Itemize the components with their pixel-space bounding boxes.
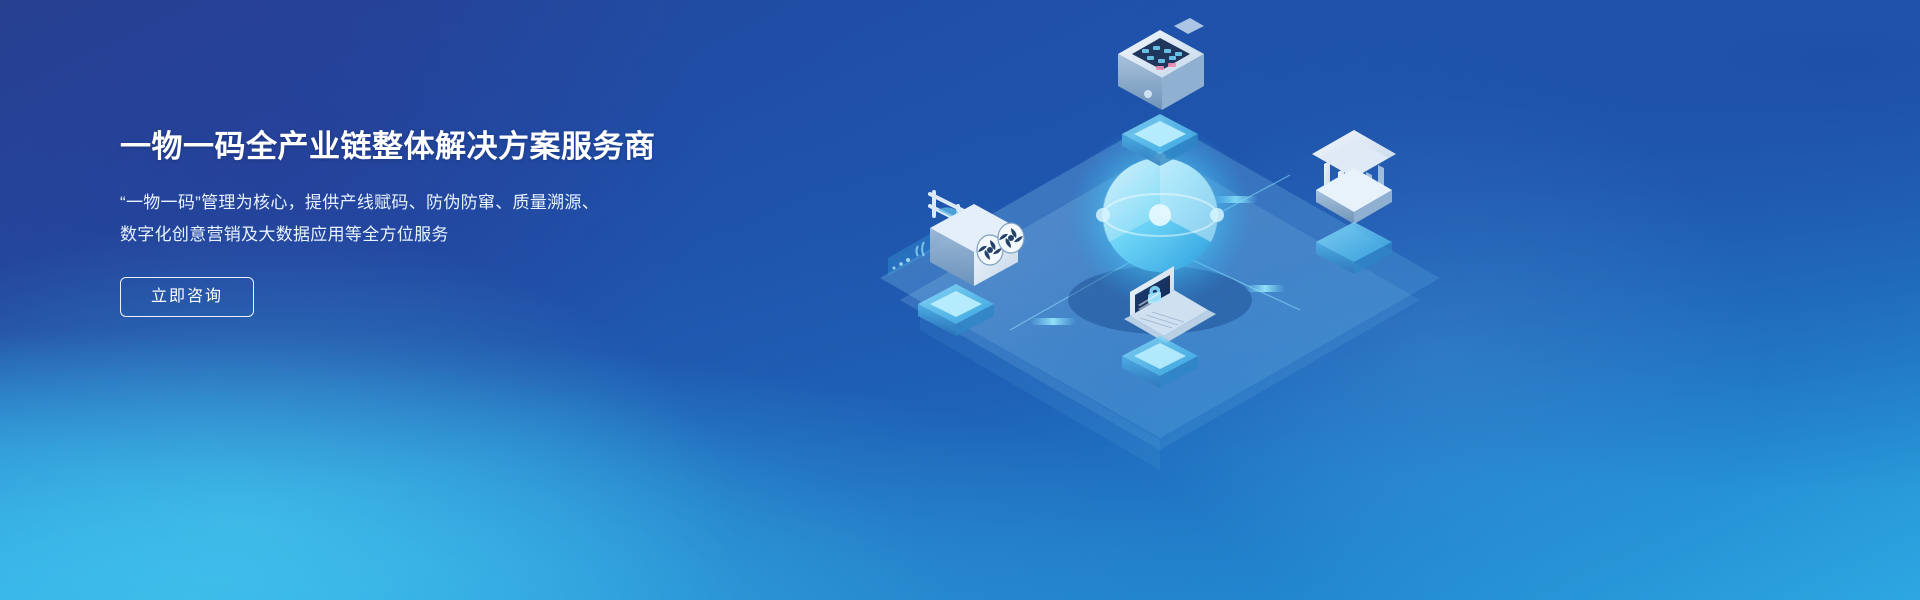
pos-terminal-icon [1118, 18, 1204, 110]
subtitle-line-2: 数字化创意营销及大数据应用等全方位服务 [120, 219, 740, 251]
fan-icon [998, 223, 1024, 253]
subtitle-line-1: “一物一码”管理为核心，提供产线赋码、防伪防窜、质量溯源、 [120, 187, 740, 219]
bank-building-icon [1312, 130, 1396, 224]
hero-banner: 一物一码全产业链整体解决方案服务商 “一物一码”管理为核心，提供产线赋码、防伪防… [0, 0, 1920, 600]
consult-now-button[interactable]: 立即咨询 [120, 277, 254, 317]
page-title: 一物一码全产业链整体解决方案服务商 [120, 128, 740, 165]
hero-subtitle: “一物一码”管理为核心，提供产线赋码、防伪防窜、质量溯源、 数字化创意营销及大数… [120, 187, 740, 251]
hero-illustration [860, 0, 1480, 600]
hero-copy-block: 一物一码全产业链整体解决方案服务商 “一物一码”管理为核心，提供产线赋码、防伪防… [120, 128, 740, 317]
